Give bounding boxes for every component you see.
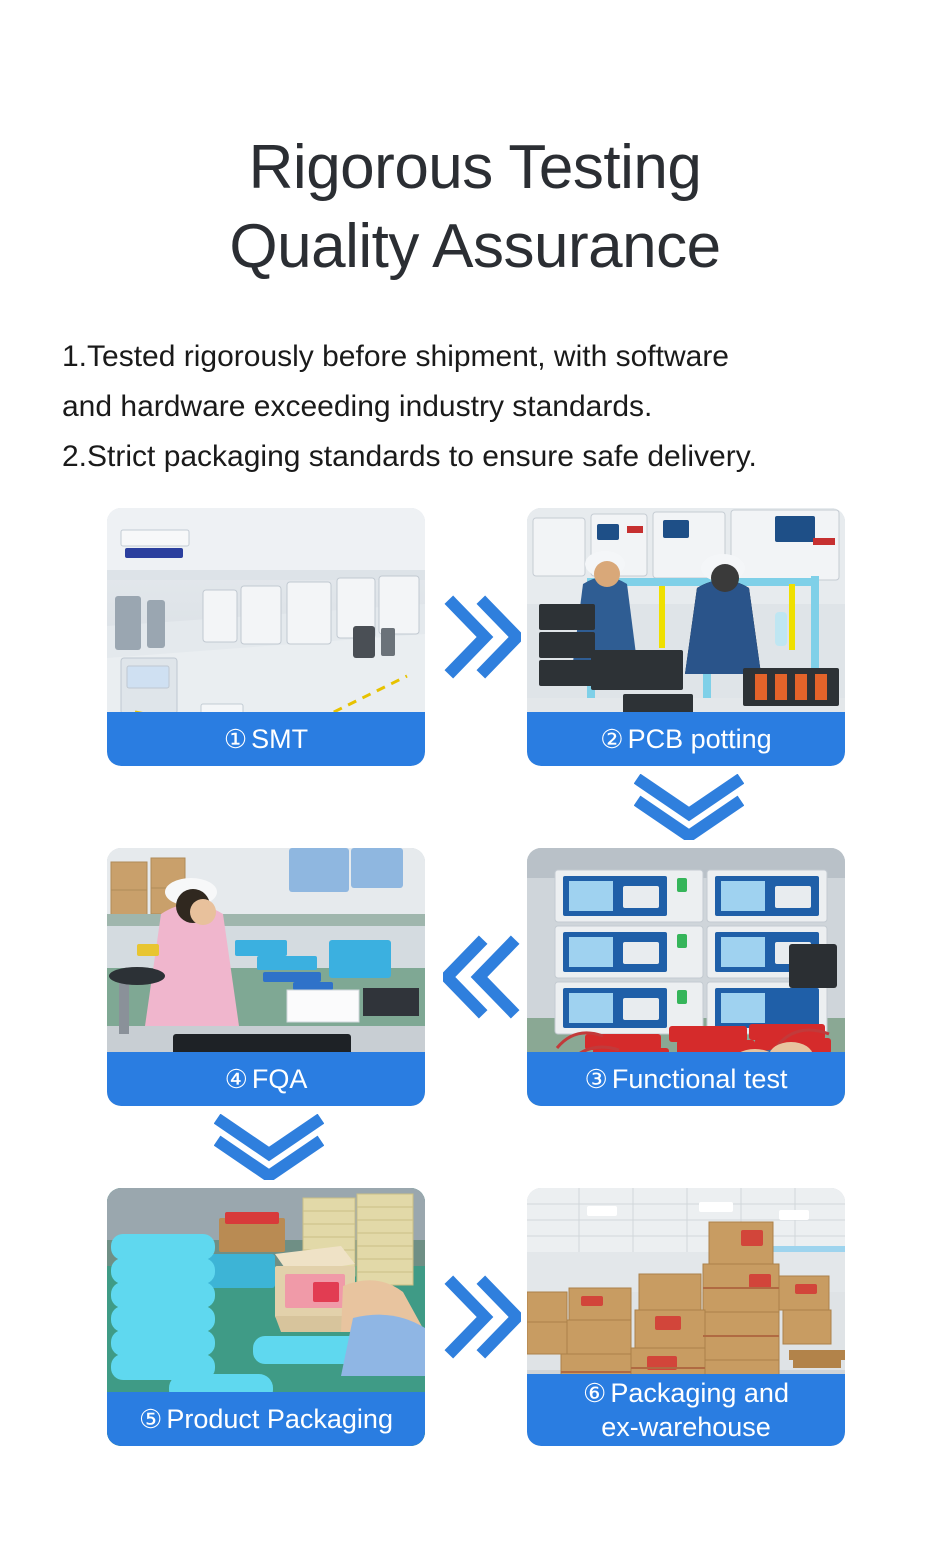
step-number-6: ⑥: [583, 1378, 606, 1408]
step-text-6: Packaging and: [610, 1378, 789, 1408]
step-text-4: FQA: [252, 1064, 308, 1094]
process-step-card-2[interactable]: ②PCB potting: [527, 508, 845, 766]
chevron-left-icon: [443, 932, 521, 1022]
process-step-label-5: ⑤Product Packaging: [107, 1392, 425, 1446]
process-row-1: ①SMT: [0, 508, 950, 766]
process-gap-2: [0, 1106, 950, 1188]
page-title-line-1: Rigorous Testing: [0, 128, 950, 207]
page-title-line-2: Quality Assurance: [0, 207, 950, 286]
step-number-5: ⑤: [139, 1404, 162, 1434]
process-step-card-1[interactable]: ①SMT: [107, 508, 425, 766]
process-row-3: ⑤Product Packaging: [0, 1188, 950, 1446]
quality-assurance-infographic: Rigorous Testing Quality Assurance 1.Tes…: [0, 0, 950, 1559]
process-step-card-4[interactable]: ④FQA: [107, 848, 425, 1106]
process-step-label-1: ①SMT: [107, 712, 425, 766]
intro-line-3: 2.Strict packaging standards to ensure s…: [62, 432, 892, 482]
step-text-5: Product Packaging: [166, 1404, 393, 1434]
step-text-3: Functional test: [612, 1064, 788, 1094]
process-step-label-2: ②PCB potting: [527, 712, 845, 766]
chevron-right-icon: [443, 1272, 521, 1362]
process-step-label-4: ④FQA: [107, 1052, 425, 1106]
step-text-6-line-2: ex-warehouse: [527, 1410, 845, 1444]
intro-line-1: 1.Tested rigorously before shipment, wit…: [62, 332, 892, 382]
intro-line-2: and hardware exceeding industry standard…: [62, 382, 892, 432]
step-number-3: ③: [585, 1064, 608, 1094]
chevron-down-icon: [214, 1114, 324, 1180]
process-step-label-6: ⑥Packaging and ex-warehouse: [527, 1374, 845, 1446]
step-number-2: ②: [600, 724, 623, 754]
process-step-label-3: ③Functional test: [527, 1052, 845, 1106]
page-title: Rigorous Testing Quality Assurance: [0, 128, 950, 286]
step-text-2: PCB potting: [628, 724, 772, 754]
process-row-2: ④FQA: [0, 848, 950, 1106]
process-step-card-6[interactable]: ⑥Packaging and ex-warehouse: [527, 1188, 845, 1446]
process-step-card-5[interactable]: ⑤Product Packaging: [107, 1188, 425, 1446]
step-text-1: SMT: [251, 724, 308, 754]
intro-paragraph: 1.Tested rigorously before shipment, wit…: [62, 332, 892, 482]
process-gap-1: [0, 766, 950, 848]
step-number-4: ④: [225, 1064, 248, 1094]
process-step-card-3[interactable]: ③Functional test: [527, 848, 845, 1106]
chevron-right-icon: [443, 592, 521, 682]
chevron-down-icon: [634, 774, 744, 840]
step-number-1: ①: [224, 724, 247, 754]
process-flow: ①SMT: [0, 508, 950, 1446]
